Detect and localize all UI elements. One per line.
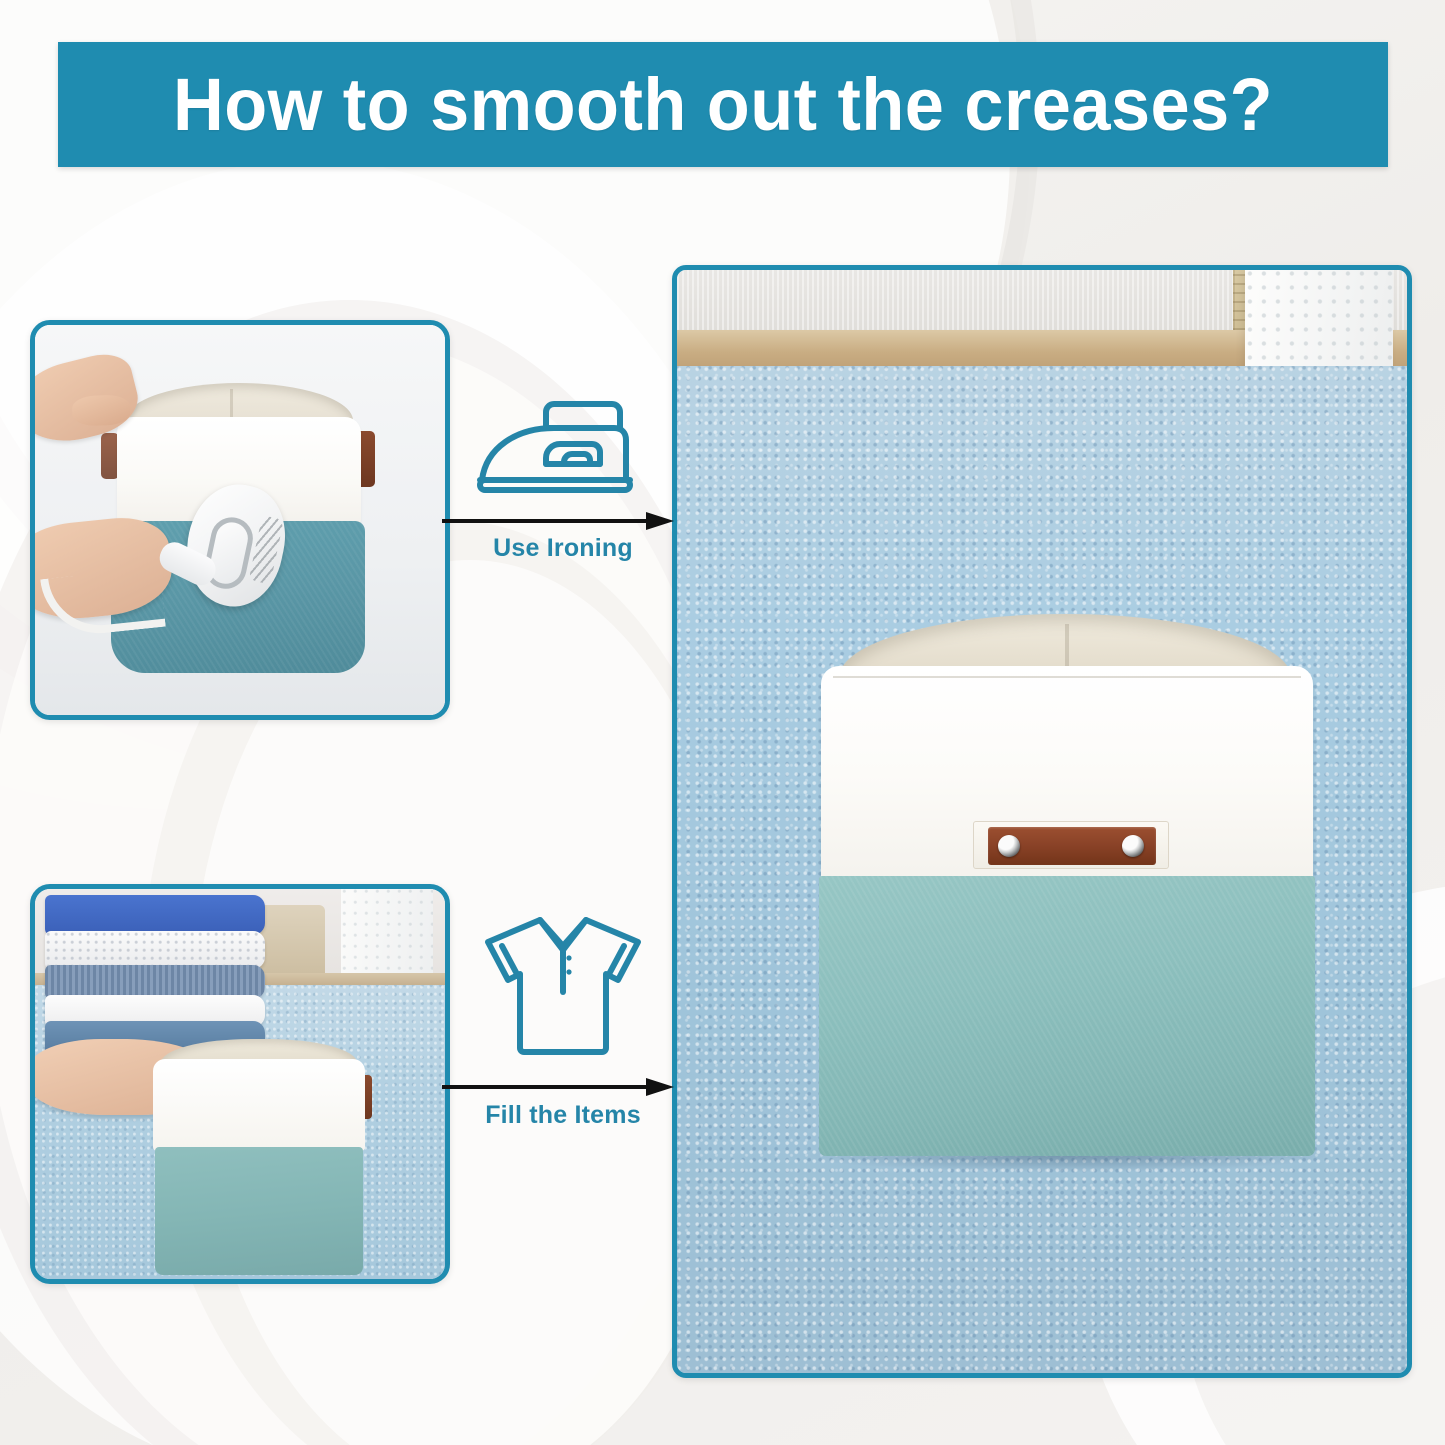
grommet-left (998, 835, 1020, 857)
folded-clothes-stack (45, 895, 265, 1059)
grommet-right (1122, 835, 1144, 857)
product-hero-photo (672, 265, 1412, 1378)
step-filling: Fill the Items (452, 906, 674, 1066)
arrow-right-icon (442, 510, 674, 532)
storage-basket (153, 1039, 365, 1277)
basket-white-section (821, 666, 1313, 884)
filling-basket-photo (30, 884, 450, 1284)
shirt-icon (468, 906, 658, 1066)
title-banner: How to smooth out the creases? (58, 42, 1388, 167)
filling-scene (35, 889, 445, 1279)
folded-item (45, 895, 265, 935)
step-ironing: Use Ironing (452, 392, 674, 502)
hero-scene (677, 270, 1407, 1373)
steaming-basket-photo (30, 320, 450, 720)
garment-steamer (151, 471, 307, 624)
leather-handle (973, 821, 1169, 869)
steaming-scene (35, 325, 445, 715)
basket-white-section (153, 1059, 365, 1151)
storage-basket (817, 614, 1317, 1156)
page-title: How to smooth out the creases? (173, 62, 1273, 147)
basket-teal-section (155, 1147, 363, 1275)
iron-icon (468, 392, 658, 502)
arrow-right-icon (442, 1076, 674, 1098)
folded-item (45, 965, 265, 999)
folded-item (45, 931, 265, 969)
step-label-filling: Fill the Items (452, 1101, 674, 1130)
basket-teal-section (819, 876, 1315, 1156)
step-label-ironing: Use Ironing (452, 534, 674, 563)
